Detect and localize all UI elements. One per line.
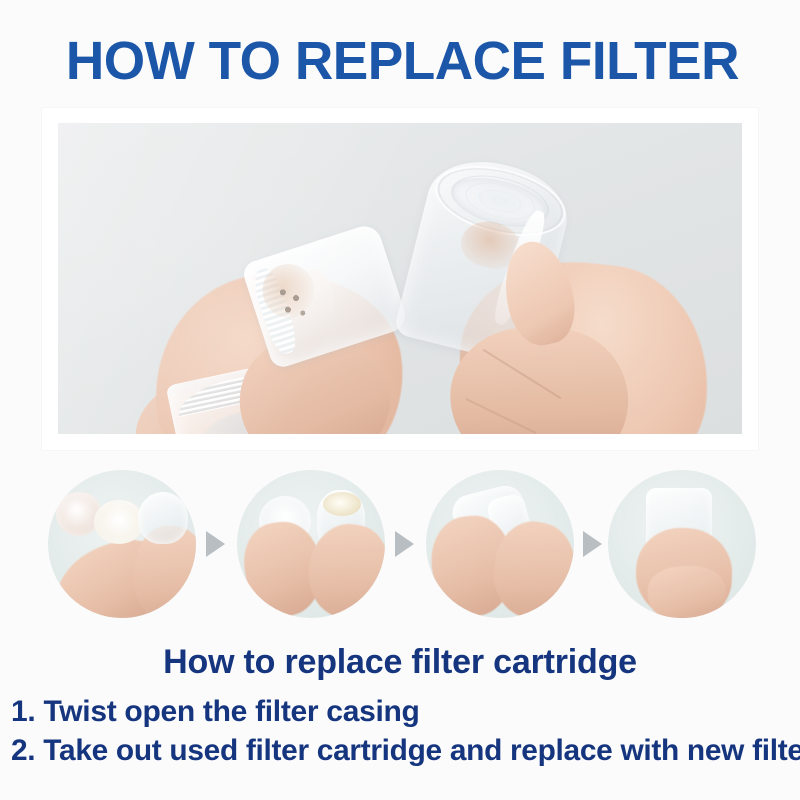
arrow-right-icon [583,531,602,557]
arrow-right-icon [395,531,414,557]
hero-image-frame [42,108,758,450]
cartridge-face [323,492,361,516]
step-thumbnail-2 [237,470,385,618]
step-thumbnail-4 [608,470,756,618]
step-thumbnail-1 [48,470,196,618]
page-title: HOW TO REPLACE FILTER [38,30,767,92]
cap-dots [272,279,323,330]
footer-step-list: 1. Twist open the filter casing 2. Take … [11,692,800,770]
step-thumbnail-row [0,468,800,618]
arrow-right-icon [206,531,225,557]
footer-step-2: 2. Take out used filter cartridge and re… [11,731,796,770]
step-thumbnail-3 [426,470,574,618]
footer-step-1: 1. Twist open the filter casing [11,692,800,731]
footer-subheading: How to replace filter cartridge [0,643,800,682]
hand-shape [301,518,385,618]
filter-housing [138,492,188,544]
infographic-page: HOW TO REPLACE FILTER [0,0,800,800]
filter-cartridge [94,500,144,544]
hero-photo [58,123,742,434]
